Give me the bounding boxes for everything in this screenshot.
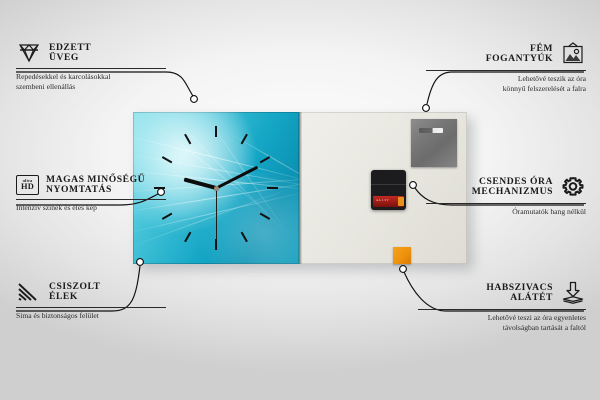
- hour-marker: [162, 213, 173, 220]
- beveled-edge-icon: [16, 281, 42, 303]
- clock-center-cap: [214, 186, 219, 191]
- wire-endpoint-tempered-glass: [191, 96, 198, 103]
- feature-foam-backing: HABSZIVACS ALÁTÉT Lehetővé teszi az óra …: [418, 281, 586, 333]
- feature-divider: [16, 307, 166, 308]
- feature-metal-handles: FÉM FOGANTYÚK Lehetővé teszik az óra kön…: [426, 42, 586, 94]
- wire-endpoint-metal-handles: [423, 105, 430, 112]
- feature-titles: MAGAS MINŐSÉGŰ NYOMTATÁS: [46, 175, 145, 195]
- ultra-hd-icon: ultra HD: [16, 175, 39, 195]
- feature-header: ultra HD MAGAS MINŐSÉGŰ NYOMTATÁS: [16, 175, 166, 195]
- feature-titles: FÉM FOGANTYÚK: [486, 44, 553, 64]
- down-arrow-pad-icon: [560, 281, 586, 305]
- feature-header: HABSZIVACS ALÁTÉT: [418, 281, 586, 305]
- infographic-canvas: AA 1.5V: [0, 0, 600, 400]
- mechanism-seam: [371, 184, 406, 185]
- feature-titles: CSENDES ÓRA MECHANIZMUS: [472, 177, 553, 197]
- panel-seam: [299, 112, 302, 264]
- feature-polished-edges: CSISZOLT ÉLEK Sima és biztonságos felüle…: [16, 281, 166, 321]
- feature-title-line2: ALÁTÉT: [486, 293, 553, 303]
- feature-title-line2: NYOMTATÁS: [46, 185, 145, 195]
- clock-hour-hand: [184, 178, 217, 190]
- picture-hanger-icon: [560, 42, 586, 66]
- feature-header: EDZETT ÜVEG: [16, 42, 166, 64]
- mechanism-hook: [381, 170, 400, 176]
- clock-mechanism: AA 1.5V: [371, 170, 406, 210]
- feature-header: CSISZOLT ÉLEK: [16, 281, 166, 303]
- feature-hd-print: ultra HD MAGAS MINŐSÉGŰ NYOMTATÁS Intenz…: [16, 175, 166, 213]
- ultra-hd-icon-large-text: HD: [21, 183, 34, 191]
- feature-divider: [16, 68, 166, 69]
- feature-silent-mechanism: CSENDES ÓRA MECHANIZMUS Óramutatók hang …: [426, 175, 586, 217]
- feature-description: Óramutatók hang nélkül: [426, 207, 586, 217]
- hour-marker: [260, 156, 271, 163]
- hour-marker: [241, 232, 248, 243]
- feature-description: Lehetővé teszi az óra egyenletes távolsá…: [418, 313, 586, 333]
- feature-titles: CSISZOLT ÉLEK: [49, 282, 101, 302]
- hour-marker: [184, 134, 191, 145]
- battery-label: AA 1.5V: [376, 198, 389, 202]
- feature-divider: [16, 199, 166, 200]
- feature-description: Repedésekkel és karcolásokkal szembeni e…: [16, 72, 166, 92]
- hour-marker: [162, 156, 173, 163]
- feature-divider: [426, 203, 586, 204]
- feature-divider: [418, 309, 586, 310]
- diamond-icon: [16, 42, 42, 64]
- feature-titles: EDZETT ÜVEG: [49, 43, 91, 63]
- hour-marker: [215, 239, 217, 250]
- metal-hanger-plate: [411, 119, 457, 167]
- feature-title-line2: FOGANTYÚK: [486, 54, 553, 64]
- hour-marker: [260, 213, 271, 220]
- foam-pad: [393, 247, 411, 264]
- feature-tempered-glass: EDZETT ÜVEG Repedésekkel és karcolásokka…: [16, 42, 166, 92]
- gear-icon: [560, 175, 586, 199]
- feature-header: FÉM FOGANTYÚK: [426, 42, 586, 66]
- feature-description: Sima és biztonságos felület: [16, 311, 166, 321]
- clock-second-hand: [216, 188, 217, 240]
- clock-minute-hand: [215, 166, 257, 190]
- feature-header: CSENDES ÓRA MECHANIZMUS: [426, 175, 586, 199]
- feature-title-line2: MECHANIZMUS: [472, 187, 553, 197]
- feature-title-line2: ÜVEG: [49, 53, 91, 63]
- battery-terminal: [398, 197, 404, 206]
- feature-title-line2: ÉLEK: [49, 292, 101, 302]
- hour-marker: [241, 134, 248, 145]
- feature-titles: HABSZIVACS ALÁTÉT: [486, 283, 553, 303]
- hour-marker: [184, 232, 191, 243]
- feature-description: Lehetővé teszik az óra könnyű felszerelé…: [426, 74, 586, 94]
- feature-divider: [426, 70, 586, 71]
- feature-description: Intenzív színek és éles kép: [16, 203, 166, 213]
- hour-marker: [215, 126, 217, 137]
- hanger-slot: [419, 128, 443, 133]
- hour-marker: [267, 187, 278, 189]
